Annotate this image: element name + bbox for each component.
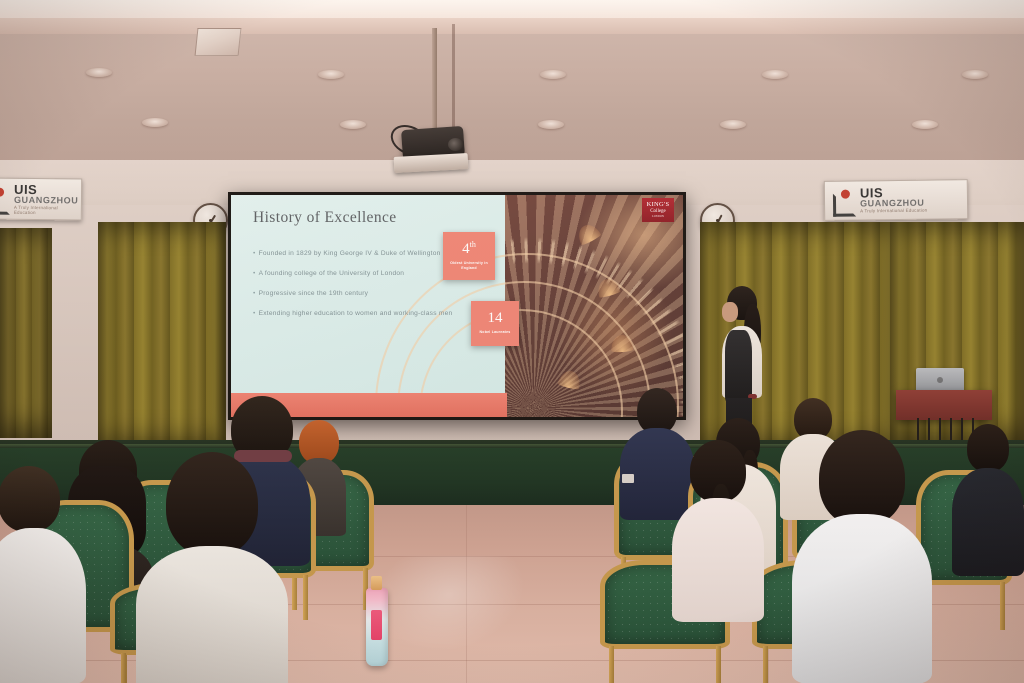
pink-jacket <box>672 498 764 622</box>
slide-stat-caption: Nobel Laureates <box>480 330 511 335</box>
white-shirt <box>792 514 932 683</box>
projection-screen: History of Excellence Founded in 1829 by… <box>228 192 686 420</box>
slide-stat-box-ranking: 4th Oldest University in England <box>443 232 495 280</box>
slide-stat-number: 4th <box>462 241 476 257</box>
presentation-table <box>896 390 992 420</box>
presentation-slide: History of Excellence Founded in 1829 by… <box>231 195 683 417</box>
presenter-vest <box>725 330 752 402</box>
slide-bullet-list: Founded in 1829 by King George IV & Duke… <box>253 249 453 329</box>
kcl-logo-line3: LONDON <box>652 215 664 218</box>
slide-bullet: A founding college of the University of … <box>253 269 453 279</box>
ceiling-panel <box>0 18 1024 168</box>
slide-stat-number: 14 <box>488 311 503 326</box>
audience-member <box>672 440 764 620</box>
slide-stat-box-nobel: 14 Nobel Laureates <box>471 301 519 346</box>
banner-uis-guangzhou-right: UIS GUANGZHOU A Truly International Educ… <box>824 179 968 221</box>
grey-sweater <box>136 546 288 683</box>
banner-right-line3: A Truly International Education <box>860 209 927 214</box>
projector-lens-icon <box>448 138 463 151</box>
water-bottle <box>366 588 388 666</box>
ceiling-beam <box>0 18 1024 34</box>
projector-mount-pole <box>432 28 437 132</box>
lecture-hall-photo: UIS GUANGZHOU A Truly International Educ… <box>0 0 1024 683</box>
audience-member <box>0 466 84 683</box>
presenter-face <box>722 302 738 322</box>
presenter-laptop <box>916 368 964 392</box>
downlight-icon <box>142 118 168 127</box>
audience-member-front-left <box>136 452 288 683</box>
audience-member-front-right <box>792 430 932 683</box>
kcl-logo-line2: College <box>650 209 666 214</box>
downlight-icon <box>86 68 112 77</box>
slide-bullet: Founded in 1829 by King George IV & Duke… <box>253 249 453 259</box>
slide-bullet: Progressive since the 19th century <box>253 289 453 299</box>
stage-curtain-left <box>98 222 226 450</box>
downlight-icon <box>540 70 566 79</box>
downlight-icon <box>962 70 988 79</box>
banner-left-line3: A Truly International Education <box>14 206 78 216</box>
downlight-icon <box>912 120 938 129</box>
downlight-icon <box>762 70 788 79</box>
audience-member <box>952 424 1024 574</box>
downlight-icon <box>318 70 344 79</box>
slide-bullet: Extending higher education to women and … <box>253 309 453 319</box>
downlight-icon <box>720 120 746 129</box>
dark-top <box>952 468 1024 576</box>
downlight-icon <box>340 120 366 129</box>
white-tshirt <box>0 528 86 683</box>
sleeve-patch <box>622 474 634 483</box>
air-vent-icon <box>195 28 242 56</box>
uis-logo-icon <box>0 188 9 210</box>
kings-college-london-logo: KING'S College LONDON <box>642 198 674 222</box>
slide-stat-caption: Oldest University in England <box>443 261 495 271</box>
slide-title: History of Excellence <box>253 209 397 227</box>
banner-uis-guangzhou-left: UIS GUANGZHOU A Truly International Educ… <box>0 177 82 220</box>
slide-decorative-photo <box>505 195 683 417</box>
downlight-icon <box>538 120 564 129</box>
stage-curtain-far-left <box>0 228 52 438</box>
uis-logo-icon <box>833 190 855 212</box>
